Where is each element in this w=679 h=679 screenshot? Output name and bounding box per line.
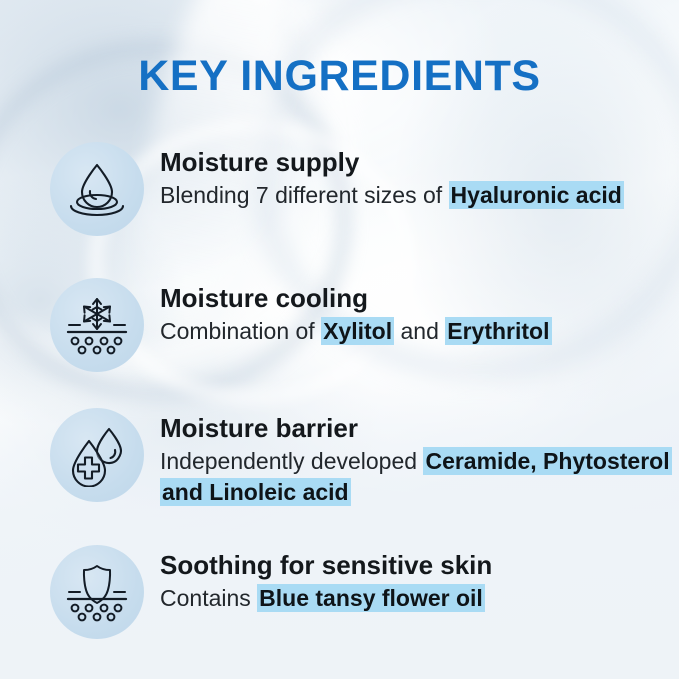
ingredient-text-block: Moisture cooling Combination of Xylitol … (160, 278, 552, 347)
ingredient-item-moisture-barrier: Moisture barrier Independently developed… (50, 408, 670, 507)
ingredient-description: Blending 7 different sizes of Hyaluronic… (160, 180, 624, 211)
ingredient-highlight: Erythritol (445, 317, 551, 345)
ingredient-text-block: Moisture barrier Independently developed… (160, 408, 670, 507)
ingredient-heading: Moisture cooling (160, 284, 552, 313)
description-prefix: Independently developed (160, 448, 423, 474)
water-droplet-ripple-icon (50, 142, 144, 236)
ingredient-heading: Soothing for sensitive skin (160, 551, 492, 580)
ingredient-text-block: Moisture supply Blending 7 different siz… (160, 142, 624, 211)
ingredient-highlight: Blue tansy flower oil (257, 584, 485, 612)
ingredient-description: Independently developed Ceramide, Phytos… (160, 446, 670, 507)
ingredient-highlight: Xylitol (321, 317, 394, 345)
ingredient-item-moisture-supply: Moisture supply Blending 7 different siz… (50, 142, 624, 236)
ingredient-description: Contains Blue tansy flower oil (160, 583, 492, 614)
droplets-plus-icon (50, 408, 144, 502)
ingredient-heading: Moisture supply (160, 148, 624, 177)
shield-skin-pores-icon (50, 545, 144, 639)
key-ingredients-poster: KEY INGREDIENTS Moisture supply Blending… (0, 0, 679, 679)
description-prefix: Blending 7 different sizes of (160, 182, 449, 208)
description-prefix: Contains (160, 585, 257, 611)
description-prefix: Combination of (160, 318, 321, 344)
ingredient-item-soothing: Soothing for sensitive skin Contains Blu… (50, 545, 492, 639)
ingredient-text-block: Soothing for sensitive skin Contains Blu… (160, 545, 492, 614)
ingredient-item-moisture-cooling: Moisture cooling Combination of Xylitol … (50, 278, 552, 372)
snowflake-skin-pores-icon (50, 278, 144, 372)
ingredient-description: Combination of Xylitol and Erythritol (160, 316, 552, 347)
ingredient-heading: Moisture barrier (160, 414, 670, 443)
page-title: KEY INGREDIENTS (0, 52, 679, 101)
description-conjunction: and (394, 318, 445, 344)
ingredient-highlight: Hyaluronic acid (449, 181, 624, 209)
